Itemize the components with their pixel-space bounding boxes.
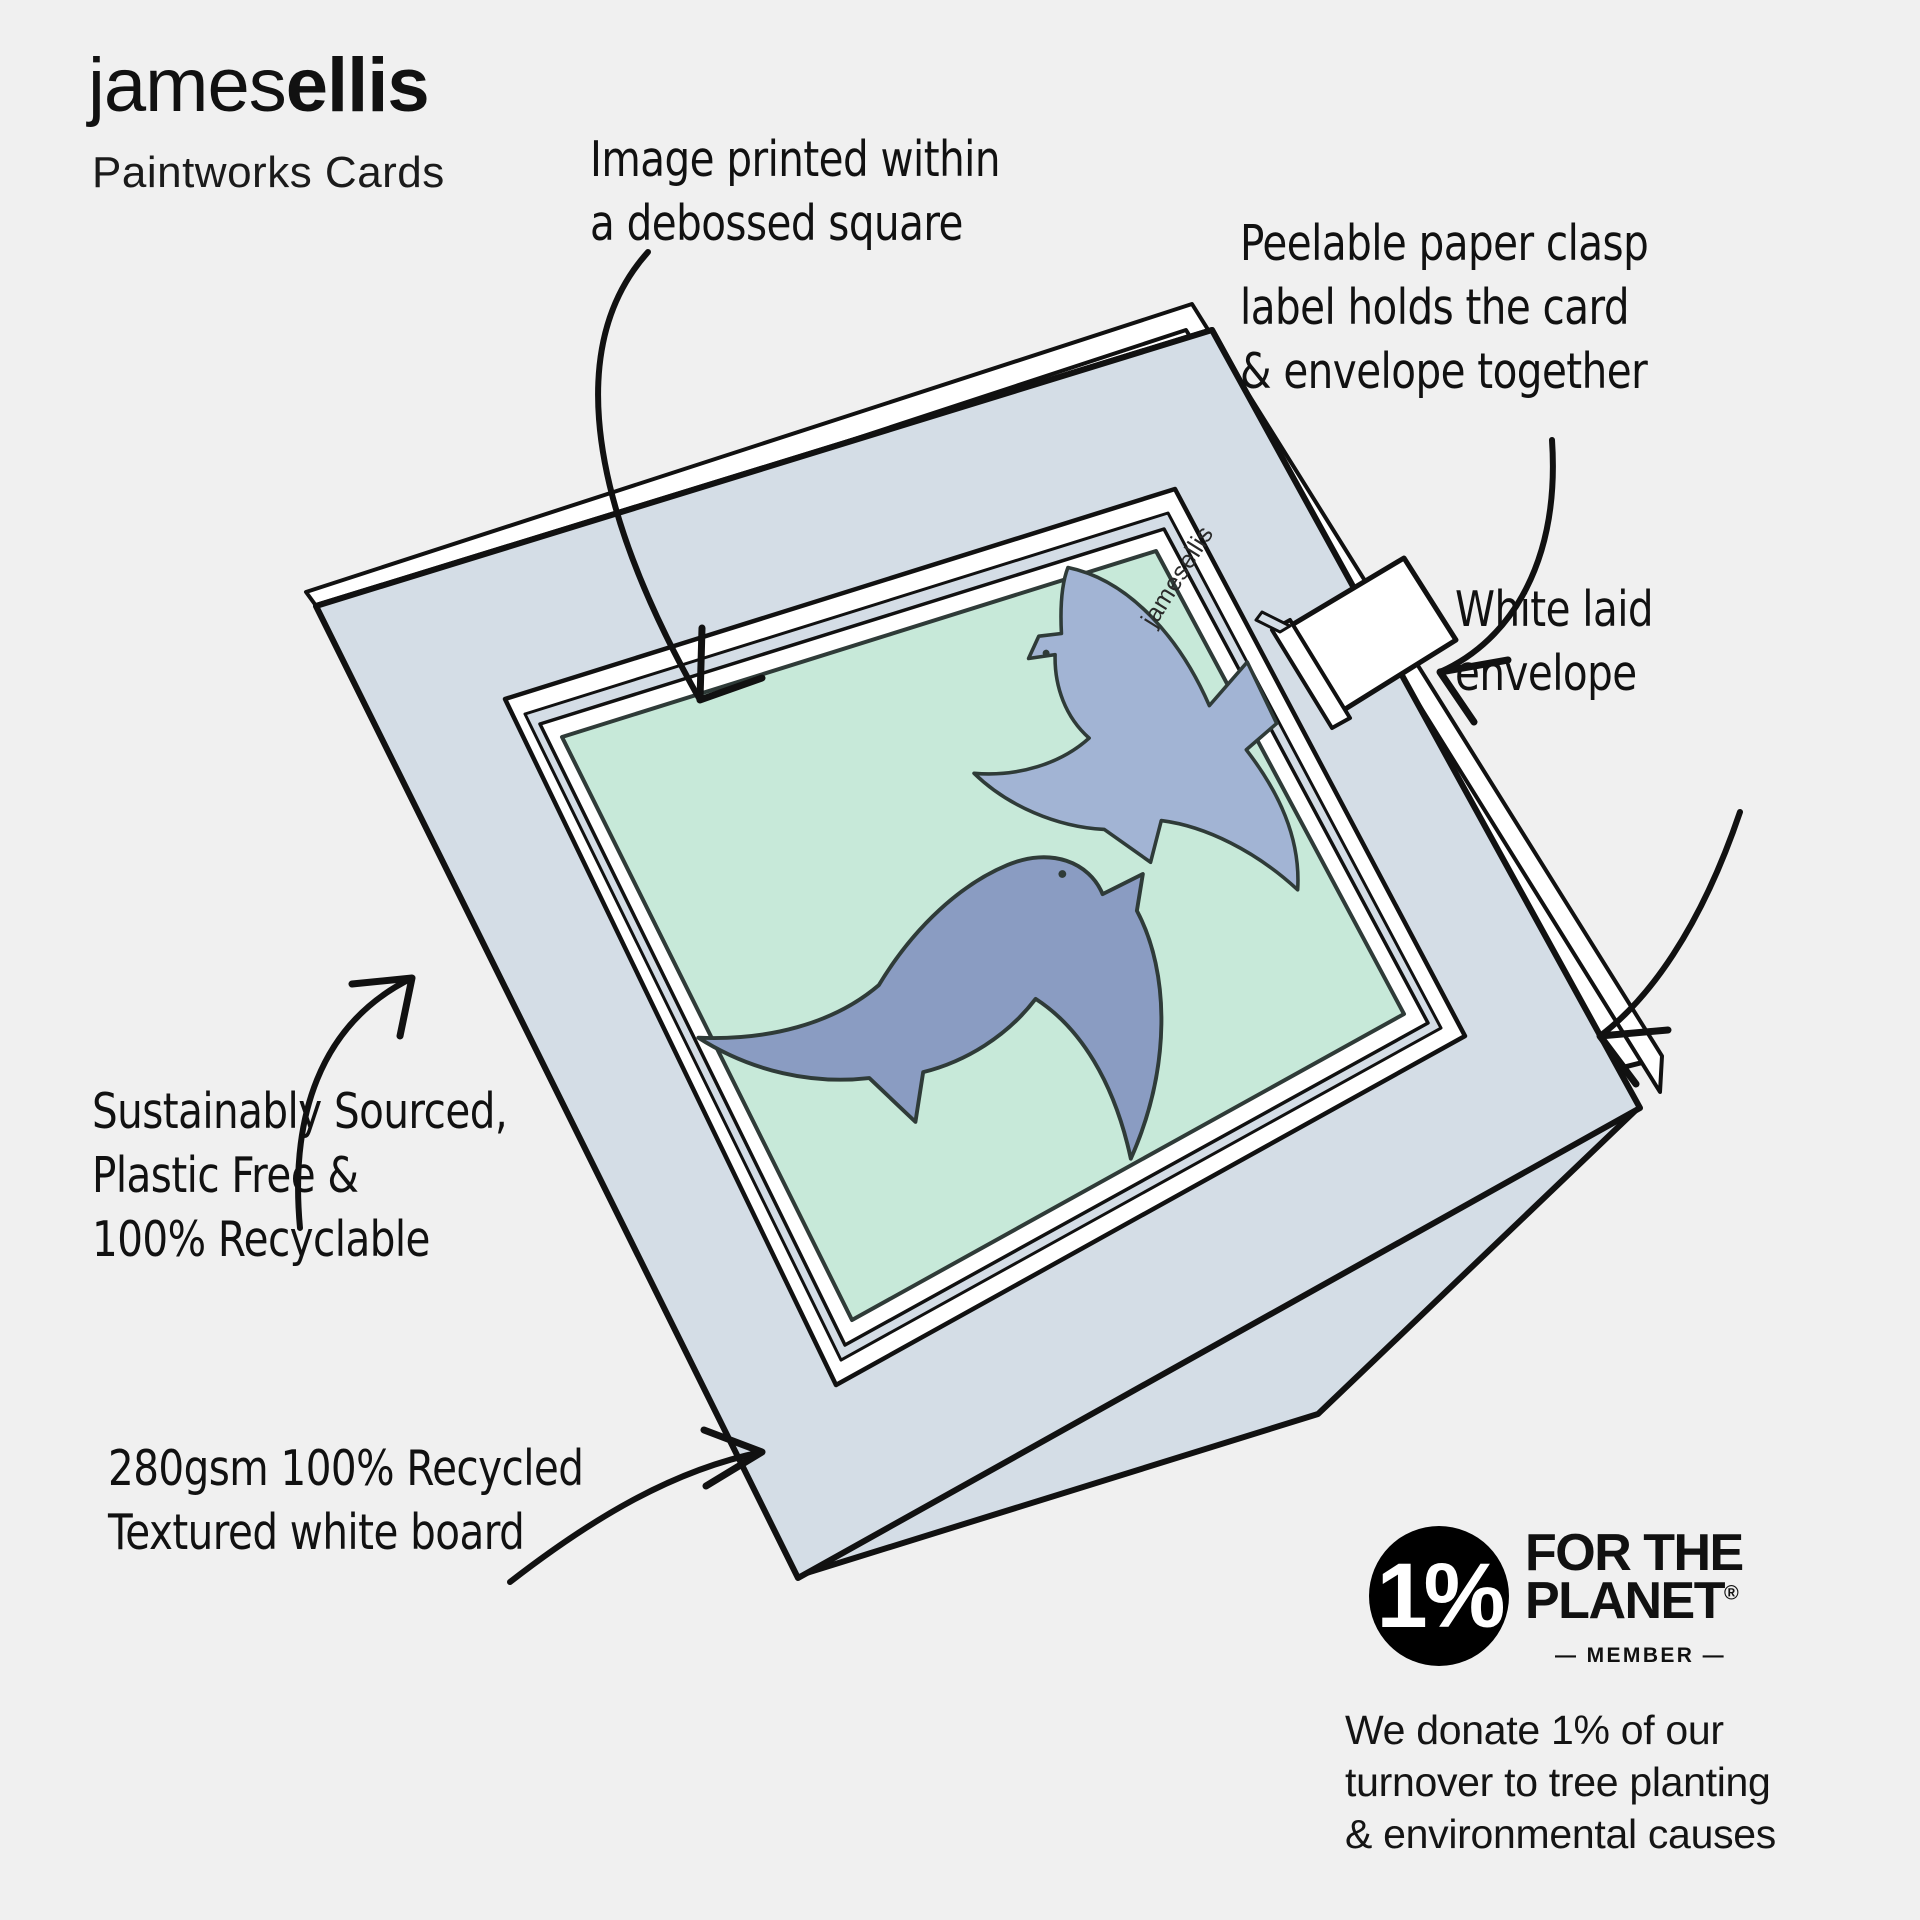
annotation-debossed-square: Image printed within a debossed square (590, 128, 1000, 256)
for-the-planet-member-label: — MEMBER — (1555, 1644, 1726, 1668)
for-the-planet-wordmark: FOR THE PLANET® (1525, 1530, 1743, 1626)
brand-wordmark: jamesellis (88, 48, 429, 124)
brand-subtitle: Paintworks Cards (92, 148, 445, 198)
annotation-sustainability: Sustainably Sourced, Plastic Free & 100%… (92, 1080, 507, 1272)
arrow-envelope (1600, 812, 1740, 1036)
infographic-canvas: jamesellis Paintworks Cards Image printe… (0, 0, 1920, 1920)
brand-name-light: james (88, 43, 286, 128)
arrow-debossed-head (700, 628, 762, 700)
arrow-envelope-head (1600, 1030, 1668, 1084)
arrow-sustainable-head (352, 978, 412, 1036)
one-percent-text: 1% (1369, 1526, 1509, 1666)
for-the-planet-line2: PLANET® (1525, 1578, 1743, 1626)
arrow-debossed (598, 252, 700, 700)
one-percent-for-the-planet-logo: 1% FOR THE PLANET® — MEMBER — (1369, 1524, 1799, 1674)
for-the-planet-line1: FOR THE (1525, 1530, 1743, 1578)
annotation-board-stock: 280gsm 100% Recycled Textured white boar… (108, 1437, 583, 1565)
annotation-clasp-label: Peelable paper clasp label holds the car… (1240, 212, 1648, 404)
brand-name-bold: ellis (286, 43, 429, 128)
annotation-white-envelope: White laid envelope (1455, 578, 1653, 706)
donation-statement: We donate 1% of our turnover to tree pla… (1345, 1704, 1776, 1860)
registered-trademark-icon: ® (1724, 1583, 1739, 1605)
